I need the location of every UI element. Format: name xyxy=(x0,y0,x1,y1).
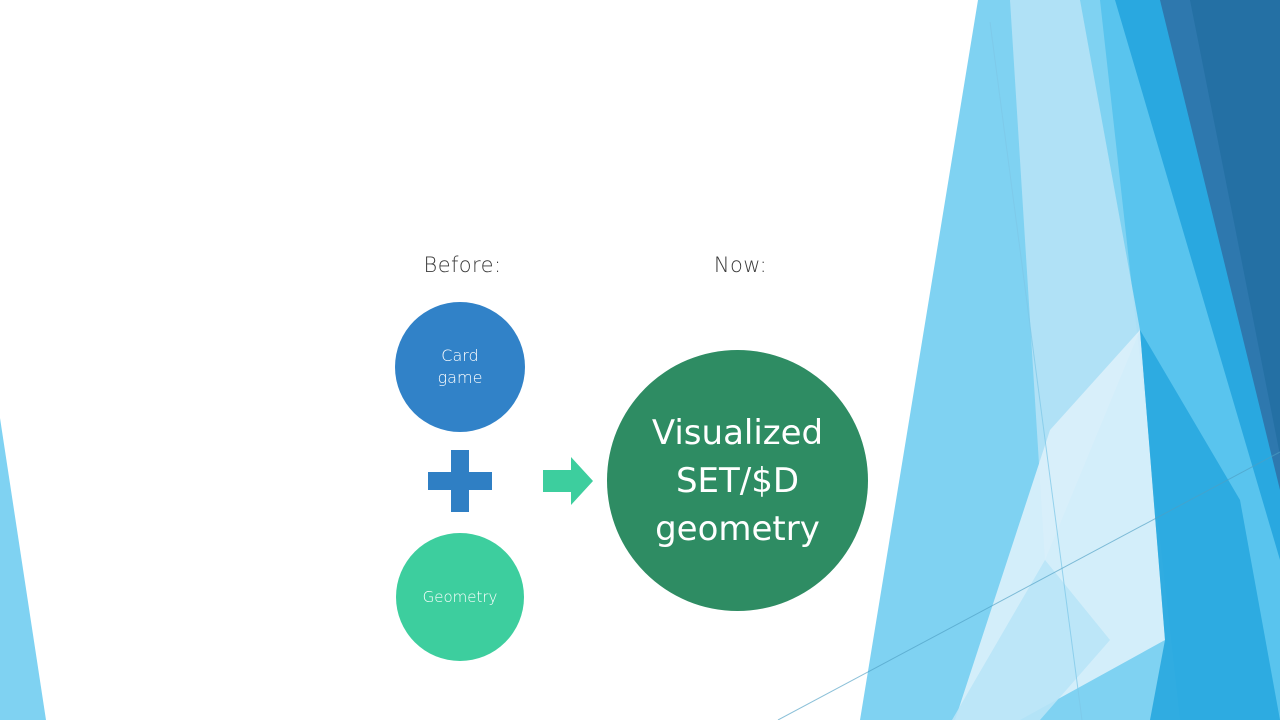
node-result-line1: Visualized xyxy=(652,413,823,453)
node-result[interactable]: Visualized SET/$D geometry xyxy=(607,350,868,611)
node-geometry-label: Geometry xyxy=(423,587,498,607)
decor-pale-sliver xyxy=(952,560,1110,720)
decor-verypale-wedge xyxy=(955,330,1165,720)
node-card-game[interactable]: Card game xyxy=(395,302,525,432)
slide-canvas: Before: Now: Card game Geometry Visualiz… xyxy=(0,0,1280,720)
decor-light-triangle xyxy=(860,0,1180,720)
arrow-right-icon xyxy=(543,457,593,505)
label-before: Before: xyxy=(390,253,535,277)
node-result-line3: geometry xyxy=(655,509,820,549)
node-result-label: Visualized SET/$D geometry xyxy=(652,409,823,553)
decor-hairline-1 xyxy=(990,22,1082,720)
decor-right-midblue xyxy=(1060,0,1280,720)
node-result-line2: SET/$D xyxy=(676,461,799,501)
decor-left-wedge xyxy=(0,418,46,720)
node-geometry[interactable]: Geometry xyxy=(396,533,524,661)
node-card-game-label: Card game xyxy=(438,345,483,389)
decor-cross-band xyxy=(1140,330,1280,720)
label-now: Now: xyxy=(668,253,813,277)
decor-pale-wedge xyxy=(1010,0,1140,560)
background-decoration xyxy=(0,0,1280,720)
node-card-game-line2: game xyxy=(438,368,483,387)
node-card-game-line1: Card xyxy=(441,346,478,365)
decor-right-darkest xyxy=(1120,0,1280,470)
plus-sign-icon xyxy=(428,450,492,512)
decor-right-deep xyxy=(1100,0,1280,720)
decor-sky-sweep xyxy=(955,0,1280,720)
